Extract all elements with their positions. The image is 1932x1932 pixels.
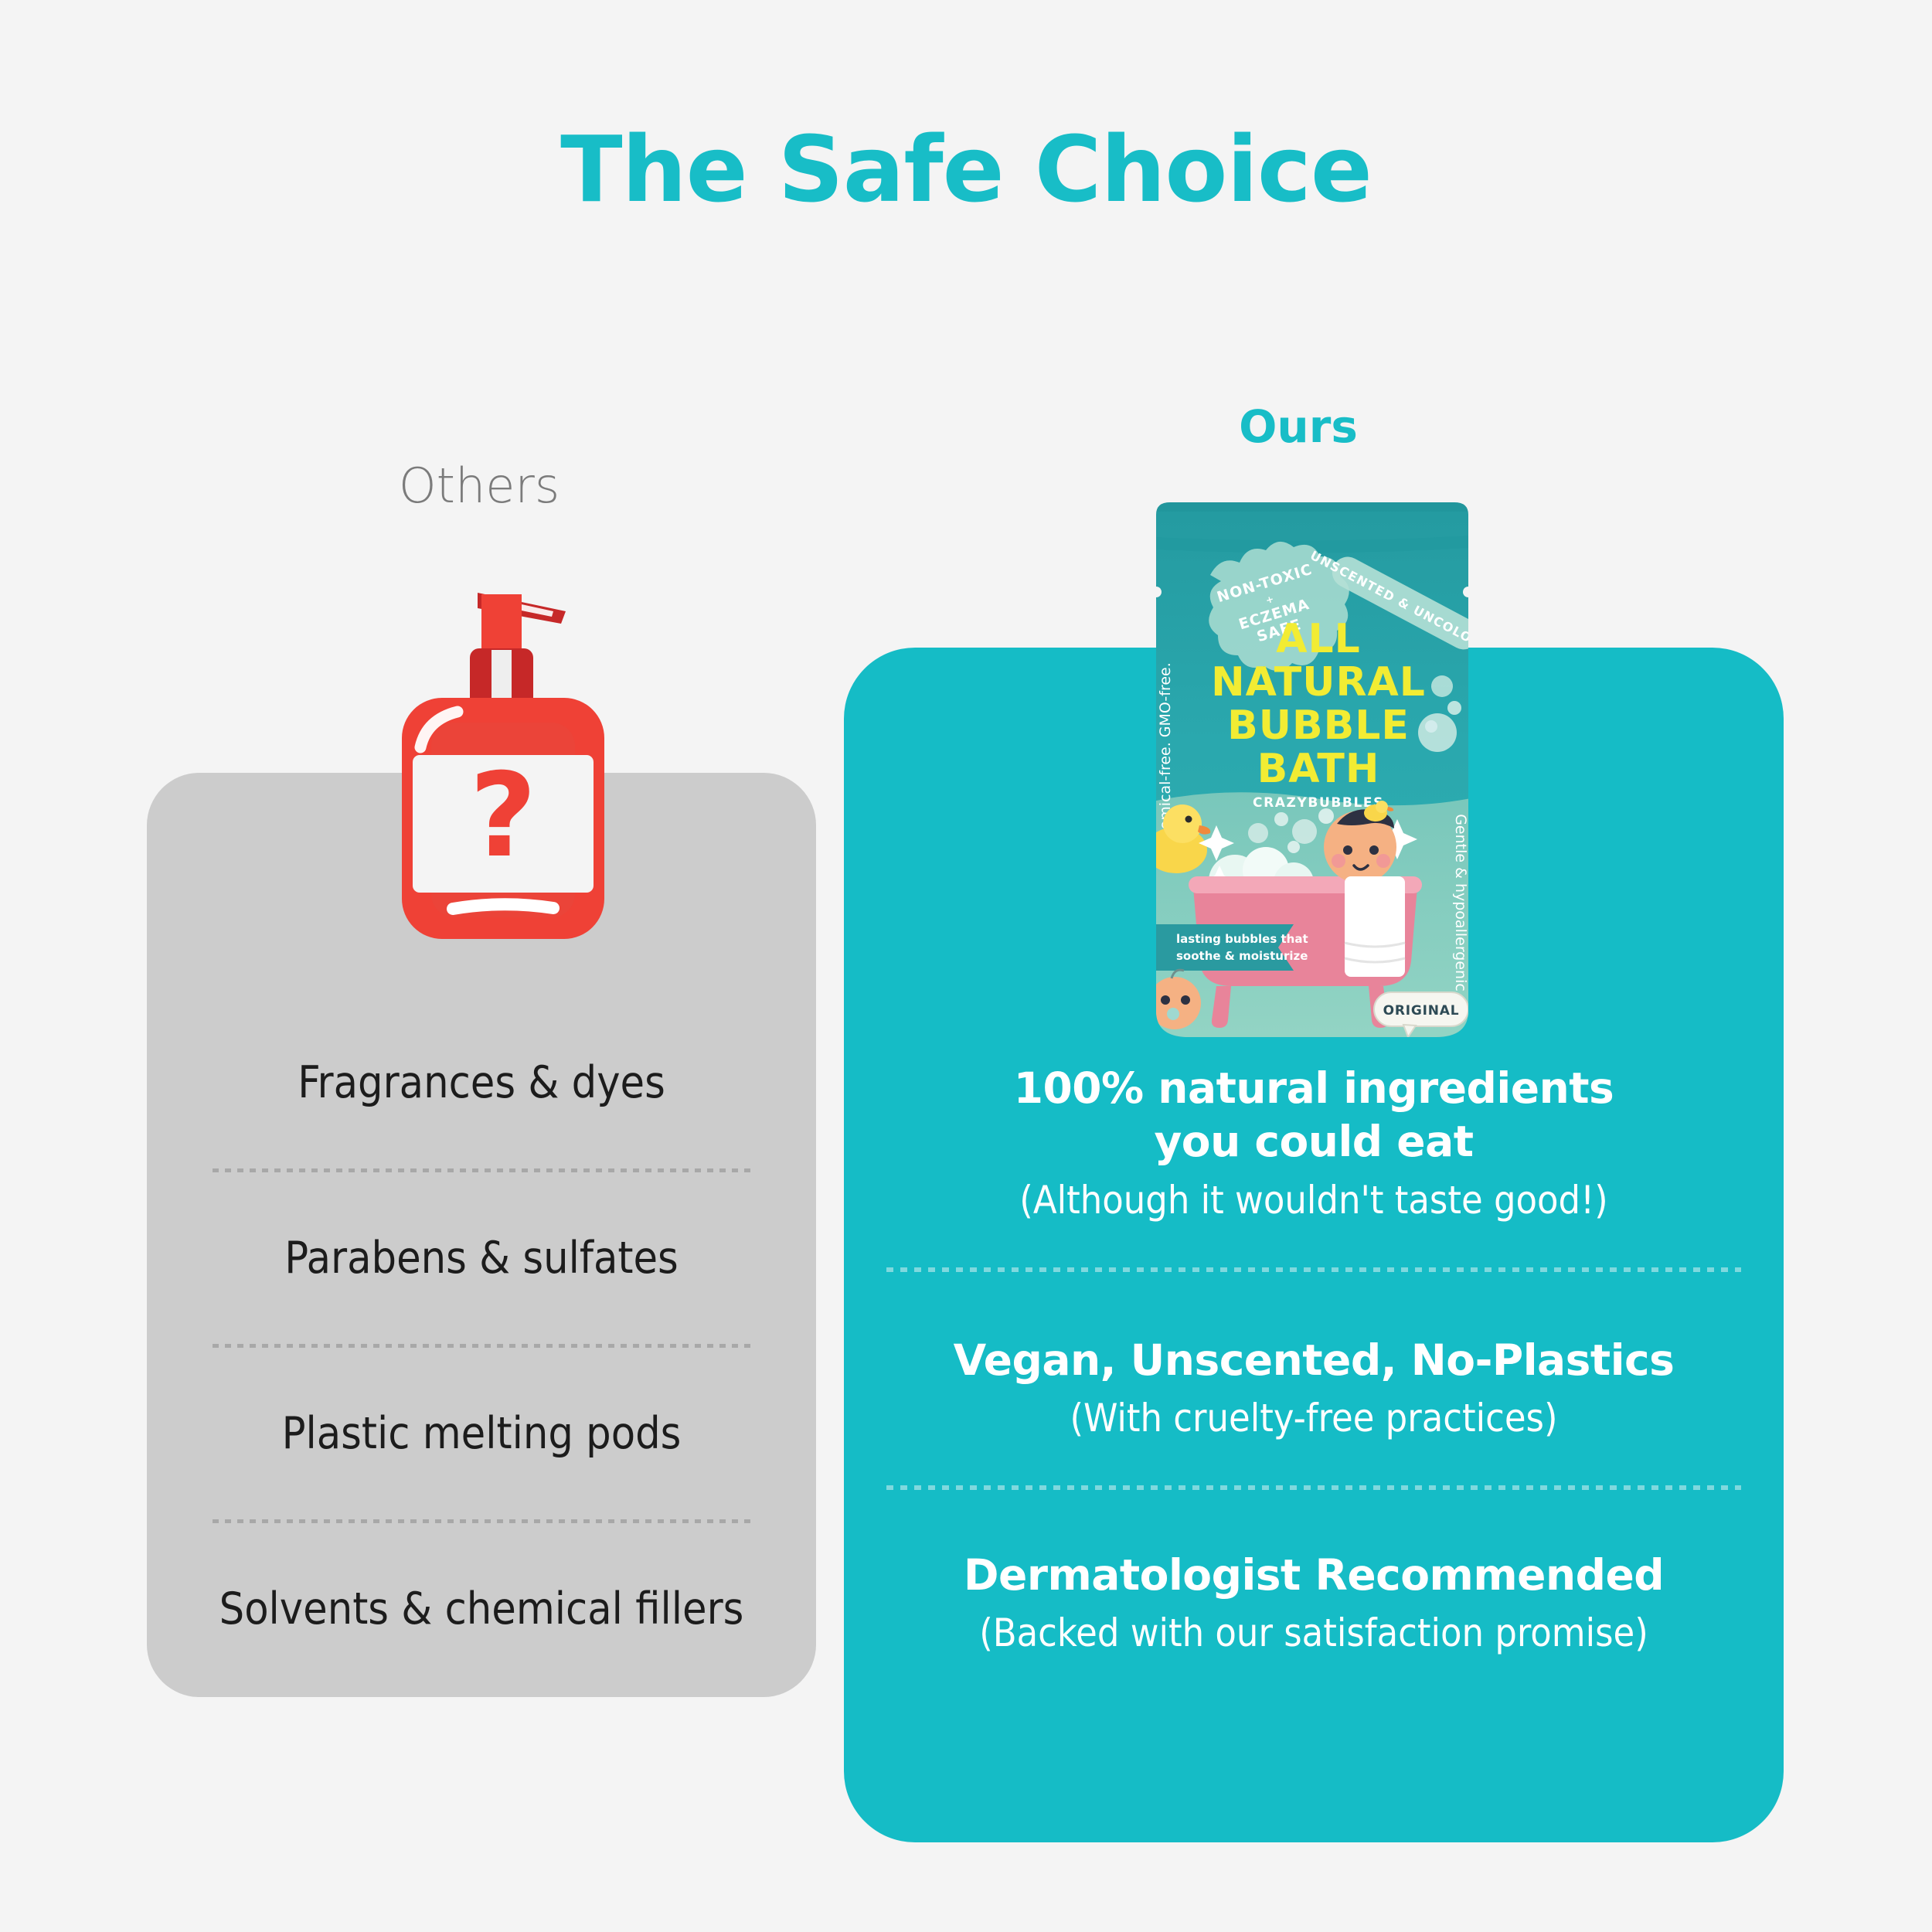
others-item-label: Solvents & chemical fillers <box>219 1583 744 1634</box>
ours-item-title-line1: Dermatologist Recommended <box>875 1549 1753 1602</box>
tear-notch-right-icon <box>1463 587 1474 597</box>
others-item-label: Plastic melting pods <box>282 1408 682 1459</box>
competitor-bottle-illustration: ? <box>386 583 626 970</box>
pouch-title-line4: BATH <box>1257 746 1380 792</box>
others-list-item: Parabens & sulfates <box>147 1172 816 1344</box>
ours-item-subtitle: (Although it wouldn't taste good!) <box>875 1175 1753 1226</box>
others-item-label: Parabens & sulfates <box>284 1233 679 1284</box>
ours-list-item: 100% natural ingredients you could eat (… <box>844 1059 1784 1233</box>
ours-list-item: Dermatologist Recommended (Backed with o… <box>844 1546 1784 1666</box>
list-separator <box>886 1267 1741 1272</box>
others-heading: Others <box>340 457 618 514</box>
list-separator <box>886 1485 1741 1490</box>
pouch-brand: CRAZYBUBBLES <box>1253 795 1384 811</box>
banner-line1: lasting bubbles that <box>1176 932 1308 946</box>
product-pouch-illustration: NON-TOXIC + ECZEMA SAFE UNSCENTED & UNCO… <box>1142 501 1482 1042</box>
others-list-item: Solvents & chemical fillers <box>147 1523 816 1695</box>
ours-item-title-line1: 100% natural ingredients <box>875 1062 1753 1115</box>
pouch-title-line1: ALL <box>1276 616 1361 662</box>
tear-notch-left-icon <box>1151 587 1162 597</box>
others-list-item: Fragrances & dyes <box>147 997 816 1168</box>
others-list-item: Plastic melting pods <box>147 1348 816 1519</box>
page-title: The Safe Choice <box>0 116 1932 223</box>
variant-badge-label: ORIGINAL <box>1383 1003 1460 1019</box>
ours-list-item: Vegan, Unscented, No-Plastics (With crue… <box>844 1331 1784 1451</box>
pouch-side-text-right: Gentle & hypoallergenic <box>1452 814 1469 992</box>
ours-item-subtitle: (With cruelty-free practices) <box>875 1393 1753 1444</box>
towel-illustration <box>1345 876 1405 977</box>
ours-heading: Ours <box>1159 400 1437 453</box>
pouch-title-line2: NATURAL <box>1211 659 1426 706</box>
banner-line2: soothe & moisturize <box>1176 949 1308 963</box>
others-list: Fragrances & dyes Parabens & sulfates Pl… <box>147 997 816 1695</box>
ours-item-subtitle: (Backed with our satisfaction promise) <box>875 1608 1753 1658</box>
ours-item-title-line1: Vegan, Unscented, No-Plastics <box>875 1334 1753 1387</box>
question-mark-icon: ? <box>469 749 536 883</box>
ours-item-title-line2: you could eat <box>875 1115 1753 1168</box>
pouch-title-line3: BUBBLE <box>1227 702 1410 749</box>
ours-list: 100% natural ingredients you could eat (… <box>844 1059 1784 1666</box>
others-item-label: Fragrances & dyes <box>298 1057 665 1108</box>
